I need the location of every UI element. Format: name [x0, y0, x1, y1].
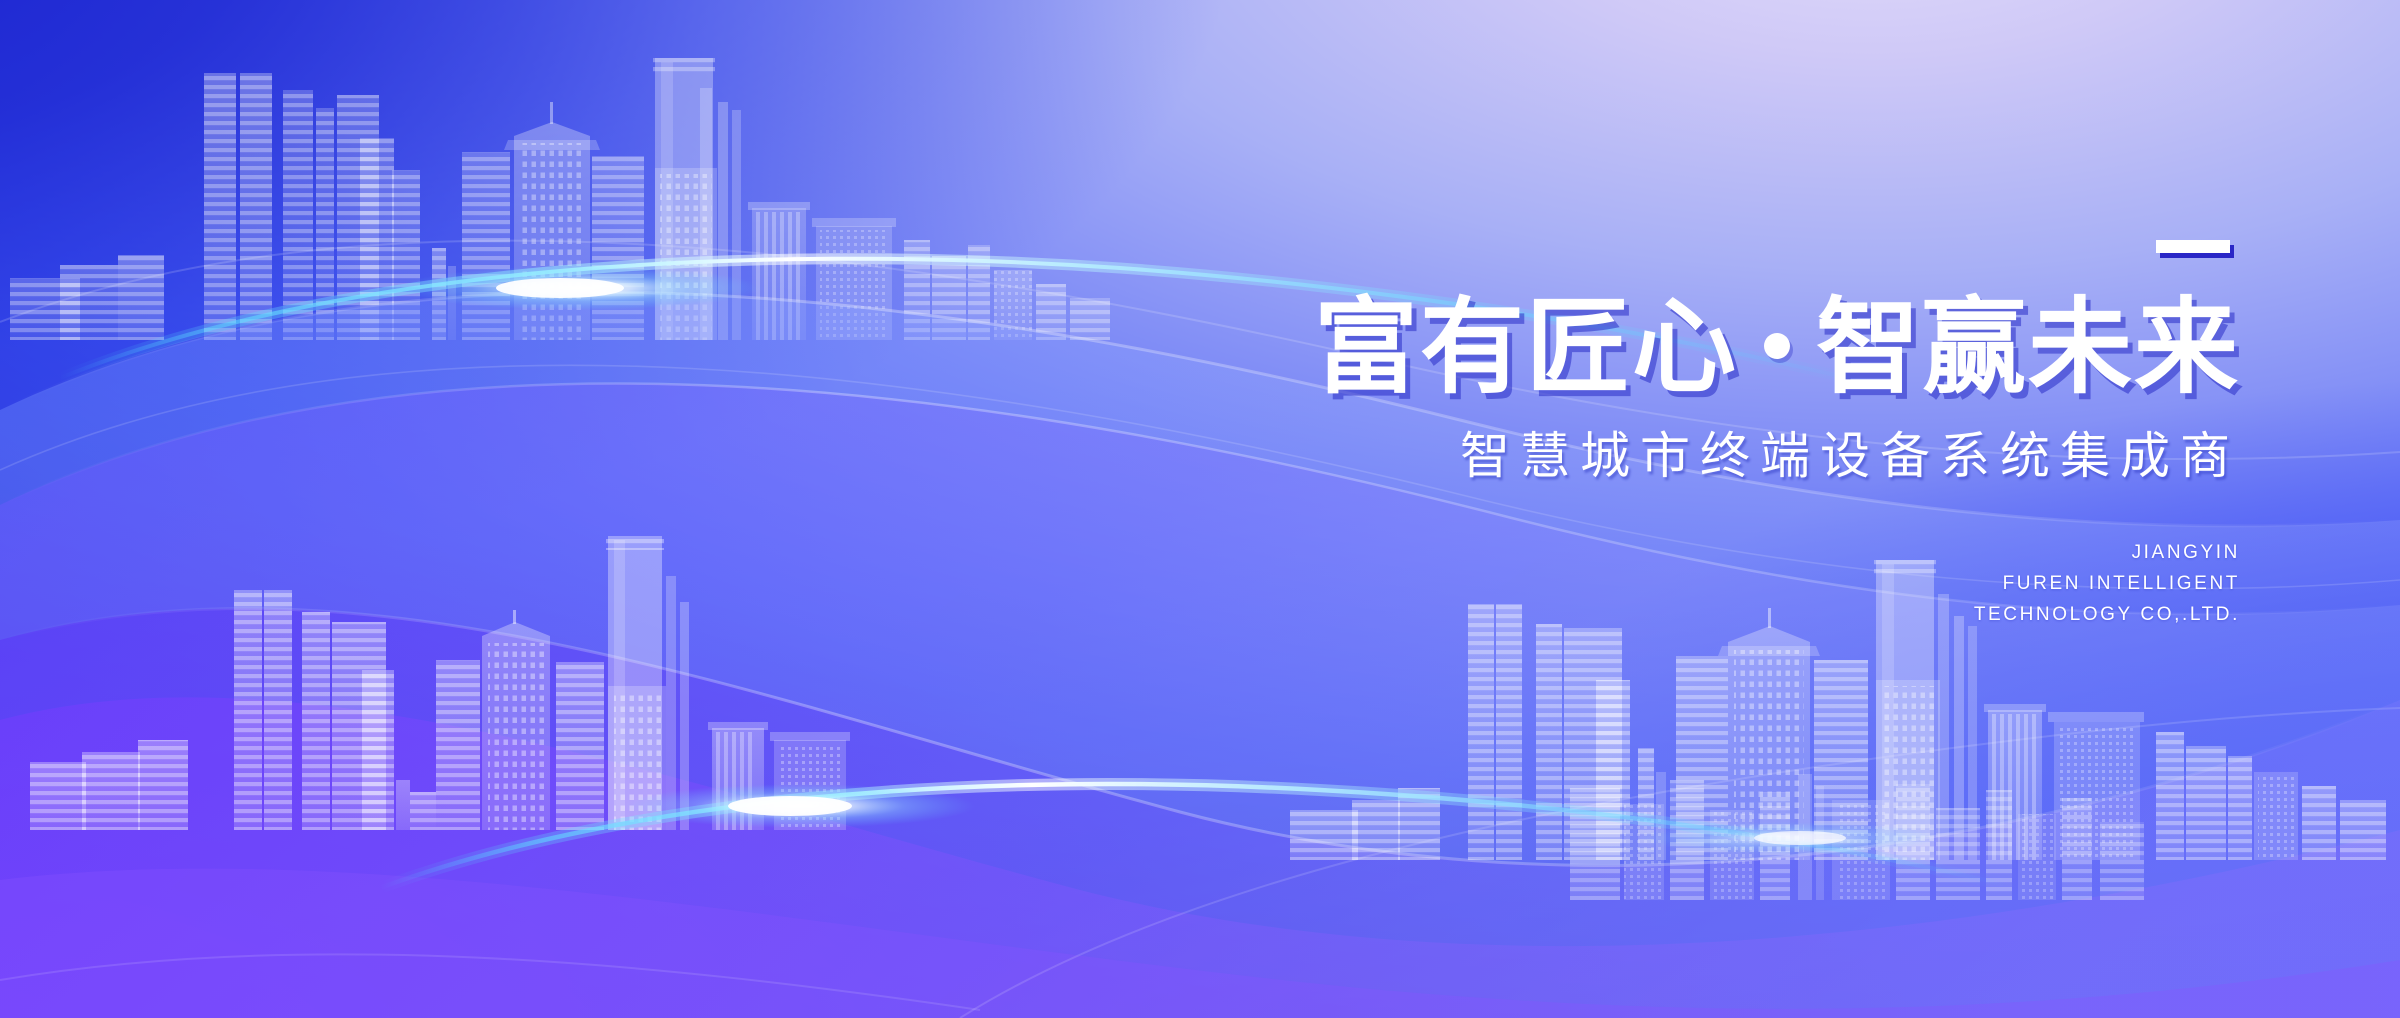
company-line-3: TECHNOLOGY CO,.LTD. — [1060, 600, 2240, 631]
company-line-2: FUREN INTELLIGENT — [1060, 569, 2240, 600]
city-skyline-mid-left — [0, 530, 890, 830]
headline-separator-dot-icon — [1764, 333, 1790, 359]
city-skyline-bottom-right — [1560, 770, 2400, 900]
headline-part-1: 富有匠心 — [1314, 286, 1738, 408]
decorative-dash-icon — [2156, 240, 2230, 253]
banner-content: 富有匠心智赢未来 智慧城市终端设备系统集成商 JIANGYIN FUREN IN… — [1060, 240, 2240, 630]
page-title: 富有匠心智赢未来 — [1060, 294, 2240, 400]
headline-part-2: 智赢未来 — [1816, 286, 2240, 408]
page-subtitle: 智慧城市终端设备系统集成商 — [1060, 426, 2240, 486]
company-line-1: JIANGYIN — [1060, 538, 2240, 569]
banner-canvas: 富有匠心智赢未来 智慧城市终端设备系统集成商 JIANGYIN FUREN IN… — [0, 0, 2400, 1018]
company-name-block: JIANGYIN FUREN INTELLIGENT TECHNOLOGY CO… — [1060, 538, 2240, 630]
